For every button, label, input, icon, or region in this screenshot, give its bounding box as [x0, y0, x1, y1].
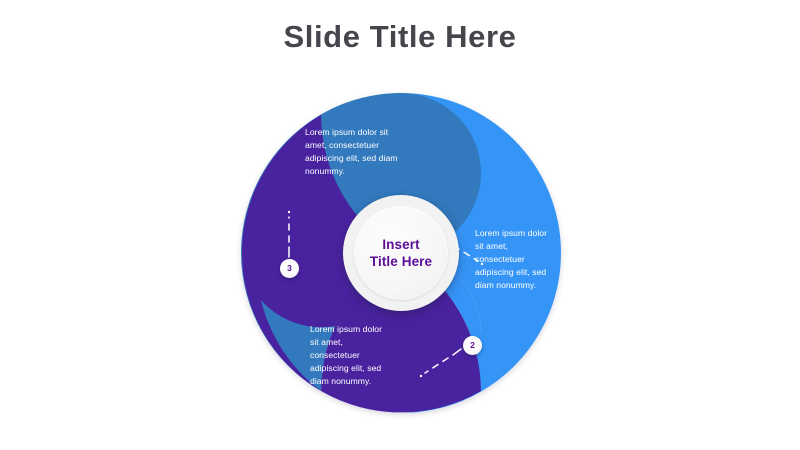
step-badge-3-label: 3	[287, 264, 292, 273]
center-title-line-1: Insert	[370, 236, 432, 253]
step-badge-3[interactable]: 3	[280, 259, 299, 278]
segment-2-text: Lorem ipsum dolor sit amet, consectetuer…	[475, 227, 551, 292]
center-title-line-2: Title Here	[370, 253, 432, 270]
step-badge-2-label: 2	[470, 341, 475, 350]
segment-3-text: Lorem ipsum dolor sit amet, consectetuer…	[310, 323, 392, 388]
center-title: Insert Title Here	[370, 236, 432, 270]
spiral-infographic-diagram: Lorem ipsum dolor sit amet, consectetuer…	[235, 87, 567, 419]
segment-1-text: Lorem ipsum dolor sit amet, consectetuer…	[305, 126, 409, 178]
trail-2-dot	[420, 375, 422, 377]
page-title: Slide Title Here	[0, 20, 800, 54]
center-circle-inner: Insert Title Here	[354, 206, 448, 300]
center-circle[interactable]: Insert Title Here	[343, 195, 459, 311]
trail-3-dot	[288, 211, 290, 213]
step-badge-2[interactable]: 2	[463, 336, 482, 355]
